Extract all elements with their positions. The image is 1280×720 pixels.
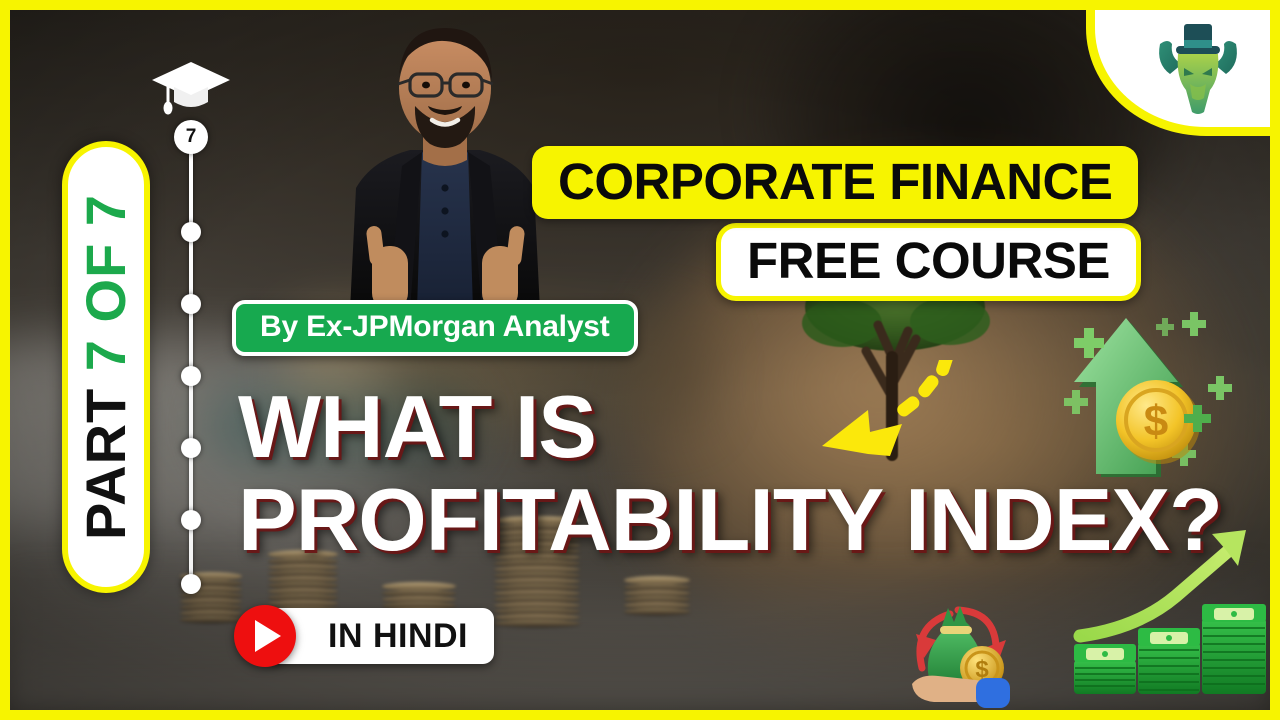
timeline-dot — [181, 574, 201, 594]
language-badge: IN HINDI — [266, 608, 494, 664]
part-badge-text: PART 7 OF 7 — [78, 194, 134, 540]
bull-with-tophat-logo — [1152, 20, 1244, 116]
hand-money-bag-icon: $ — [898, 592, 1038, 717]
graduation-cap-icon — [150, 58, 232, 116]
timeline-current-node: 7 — [174, 120, 208, 154]
part-number: 7 OF 7 — [74, 194, 137, 388]
headline-line-2: PROFITABILITY INDEX? — [238, 477, 1222, 562]
part-badge: PART 7 OF 7 — [62, 141, 150, 593]
brand-logo[interactable] — [1076, 8, 1272, 148]
play-icon[interactable] — [234, 605, 296, 667]
play-triangle — [255, 620, 281, 652]
course-title-badge: CORPORATE FINANCE — [532, 146, 1138, 219]
credential-badge: By Ex-JPMorgan Analyst — [232, 300, 638, 356]
part-label: PART — [74, 388, 137, 540]
course-timeline: 7 — [168, 58, 214, 598]
timeline-dot — [181, 222, 201, 242]
timeline-dot — [181, 438, 201, 458]
page-title: WHAT IS PROFITABILITY INDEX? — [238, 384, 1222, 563]
free-course-badge: FREE COURSE — [716, 223, 1141, 301]
youtube-thumbnail: $ $ — [0, 0, 1280, 720]
headline-line-1: WHAT IS — [238, 377, 596, 476]
timeline-dot — [181, 366, 201, 386]
timeline-dot — [181, 294, 201, 314]
timeline-dot — [181, 510, 201, 530]
